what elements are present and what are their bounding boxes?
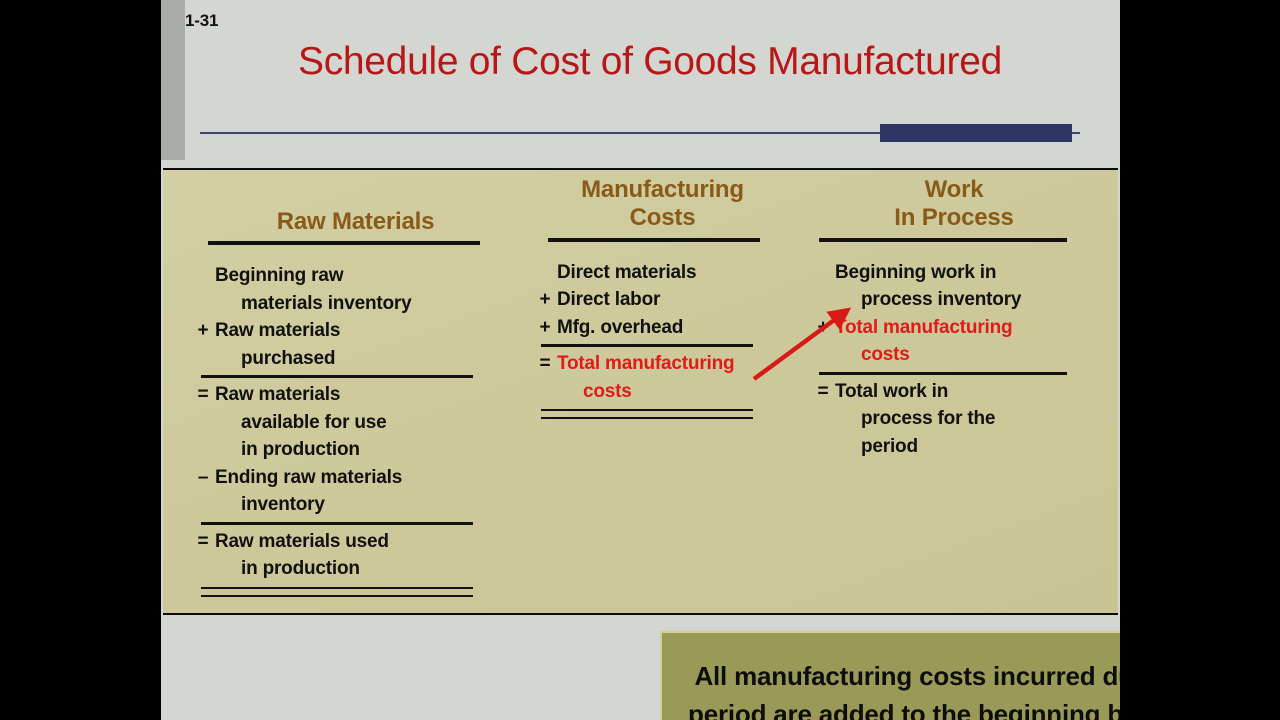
progress-bar: [880, 124, 1072, 142]
list-item: costs: [535, 378, 790, 406]
column-heading-manufacturing-costs: Manufacturing Costs: [535, 170, 790, 233]
subtotal-rule: [201, 522, 473, 525]
column-raw-materials: Raw Materials Beginning raw materials in…: [193, 170, 518, 599]
list-item-total-manufacturing-costs: + Total manufacturing: [813, 314, 1095, 342]
list-item-total-manufacturing-costs: = Total manufacturing: [535, 350, 790, 378]
list-item-label: Mfg. overhead: [557, 314, 683, 342]
column-work-in-process: Work In Process Beginning work in proces…: [813, 170, 1095, 460]
column-heading-rule: [548, 238, 760, 242]
column-manufacturing-costs: Manufacturing Costs Direct materials + D…: [535, 170, 790, 421]
list-item-label: process for the: [861, 405, 995, 433]
list-item: Beginning raw: [193, 262, 518, 290]
list-item: in production: [193, 555, 518, 583]
list-item-label: materials inventory: [241, 290, 411, 318]
list-item-label: inventory: [241, 491, 325, 519]
list-item: Direct materials: [535, 259, 790, 287]
total-rule-double: [201, 587, 473, 597]
list-item: + Direct labor: [535, 286, 790, 314]
list-item-label: available for use: [241, 409, 387, 437]
list-item-label: Total manufacturing: [557, 350, 734, 378]
operator: +: [535, 314, 555, 342]
column-heading-raw-materials: Raw Materials: [193, 170, 518, 236]
list-item-label: Ending raw materials: [215, 464, 402, 492]
list-item-label: period: [861, 433, 918, 461]
list-item-label: process inventory: [861, 286, 1021, 314]
column-heading-line2: Costs: [535, 204, 790, 232]
slide-left-accent-strip: [161, 0, 185, 160]
content-panel: Raw Materials Beginning raw materials in…: [163, 168, 1118, 615]
column-heading-line1: Manufacturing: [535, 176, 790, 204]
video-frame: 1-31 Schedule of Cost of Goods Manufactu…: [0, 0, 1280, 720]
page-title: Schedule of Cost of Goods Manufactured: [185, 40, 1115, 84]
operator: –: [193, 464, 213, 492]
line-item-list-manufacturing-costs: Direct materials + Direct labor + Mfg. o…: [535, 259, 790, 420]
column-heading-rule: [819, 238, 1067, 242]
column-heading-line1: Work: [813, 176, 1095, 204]
list-item-label: Total work in: [835, 378, 948, 406]
operator: +: [535, 286, 555, 314]
list-item: process for the: [813, 405, 1095, 433]
list-item: inventory: [193, 491, 518, 519]
list-item-label: in production: [241, 555, 360, 583]
operator: =: [193, 528, 213, 556]
list-item-label: Raw materials: [215, 381, 340, 409]
line-item-list-raw-materials: Beginning raw materials inventory + Raw …: [193, 262, 518, 597]
operator: =: [813, 378, 833, 406]
subtotal-rule: [201, 375, 473, 378]
list-item-label: Raw materials: [215, 317, 340, 345]
operator: +: [193, 317, 213, 345]
operator: +: [813, 314, 833, 342]
callout-box: All manufacturing costs incurred during …: [660, 631, 1120, 720]
list-item: costs: [813, 341, 1095, 369]
list-item-label: Direct materials: [557, 259, 696, 287]
presentation-slide: 1-31 Schedule of Cost of Goods Manufactu…: [161, 0, 1120, 720]
list-item-label: Total manufacturing: [835, 314, 1012, 342]
list-item: – Ending raw materials: [193, 464, 518, 492]
list-item: period: [813, 433, 1095, 461]
list-item-label: Beginning raw: [215, 262, 343, 290]
operator: =: [193, 381, 213, 409]
list-item-label: Beginning work in: [835, 259, 996, 287]
list-item-label: Raw materials used: [215, 528, 389, 556]
list-item: + Raw materials: [193, 317, 518, 345]
column-heading-line2: Raw Materials: [193, 208, 518, 236]
list-item-label: in production: [241, 436, 360, 464]
list-item: process inventory: [813, 286, 1095, 314]
callout-text: All manufacturing costs incurred during …: [662, 657, 1120, 720]
subtotal-rule: [819, 372, 1067, 375]
column-heading-rule: [208, 241, 480, 245]
list-item: = Raw materials: [193, 381, 518, 409]
list-item: + Mfg. overhead: [535, 314, 790, 342]
subtotal-rule: [541, 344, 753, 347]
column-heading-work-in-process: Work In Process: [813, 170, 1095, 233]
list-item: Beginning work in: [813, 259, 1095, 287]
list-item-label: costs: [583, 378, 632, 406]
column-heading-line2: In Process: [813, 204, 1095, 232]
list-item: in production: [193, 436, 518, 464]
list-item-label: costs: [861, 341, 910, 369]
list-item: = Raw materials used: [193, 528, 518, 556]
list-item: available for use: [193, 409, 518, 437]
list-item: materials inventory: [193, 290, 518, 318]
line-item-list-work-in-process: Beginning work in process inventory + To…: [813, 259, 1095, 461]
operator: =: [535, 350, 555, 378]
list-item-label: Direct labor: [557, 286, 660, 314]
list-item-label: purchased: [241, 345, 335, 373]
list-item: = Total work in: [813, 378, 1095, 406]
total-rule-double: [541, 409, 753, 419]
slide-number: 1-31: [185, 11, 218, 31]
list-item: purchased: [193, 345, 518, 373]
